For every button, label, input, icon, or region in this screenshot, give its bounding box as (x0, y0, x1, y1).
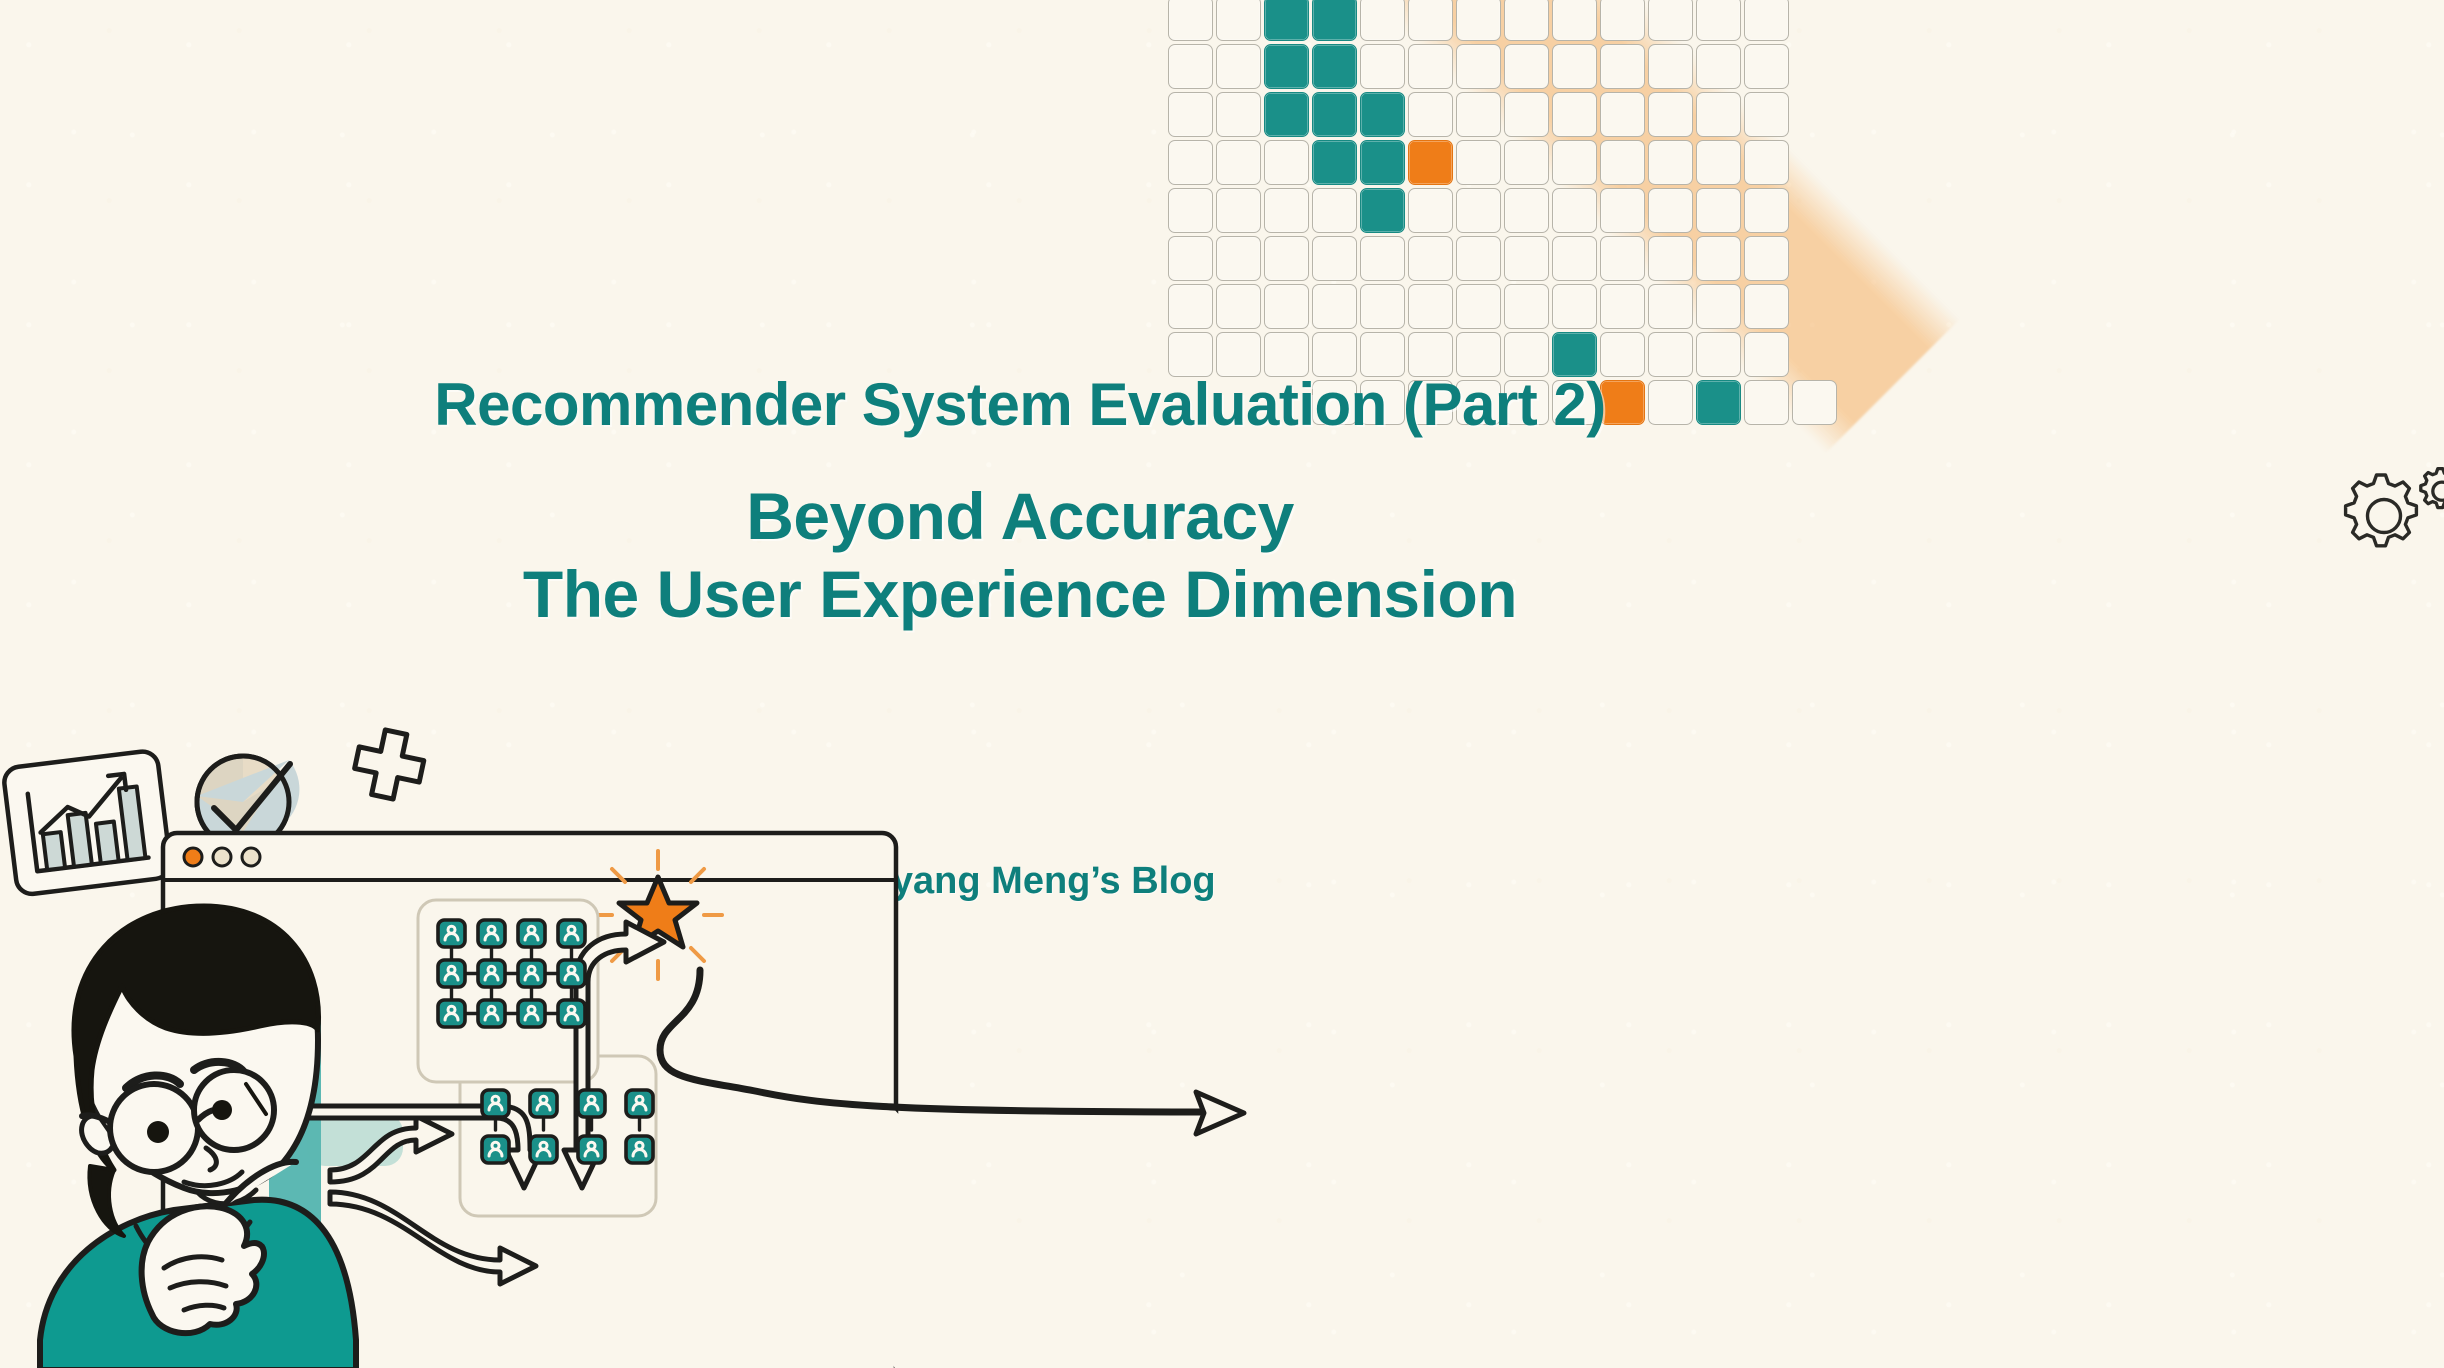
grid-cell (1504, 44, 1549, 89)
grid-cell (1360, 140, 1405, 185)
page-title-line-1: Beyond Accuracy (0, 478, 2040, 556)
grid-cell (1168, 0, 1213, 41)
grid-cell (1504, 284, 1549, 329)
hero-illustration (0, 720, 1760, 1368)
grid-cell (1744, 44, 1789, 89)
grid-cell (1600, 44, 1645, 89)
grid-cell (1456, 140, 1501, 185)
grid-cell (1312, 236, 1357, 281)
grid-cell (1168, 140, 1213, 185)
grid-cell (1552, 140, 1597, 185)
grid-cell (1552, 92, 1597, 137)
grid-cell (1408, 188, 1453, 233)
grid-cell (1744, 188, 1789, 233)
grid-cell (1552, 44, 1597, 89)
small-gear-icon (2421, 469, 2444, 508)
grid-cell (1312, 0, 1357, 41)
grid-cell (1264, 284, 1309, 329)
grid-cell (1216, 188, 1261, 233)
grid-cell (1552, 188, 1597, 233)
grid-cell (1600, 332, 1645, 377)
grid-cell (1408, 236, 1453, 281)
grid-cell (1504, 92, 1549, 137)
page-title: Beyond Accuracy The User Experience Dime… (0, 478, 2040, 634)
grid-cell (1168, 284, 1213, 329)
grid-cell (1600, 140, 1645, 185)
grid-cell (1264, 44, 1309, 89)
grid-cell (1456, 0, 1501, 41)
grid-cell (1312, 284, 1357, 329)
page-title-line-2: The User Experience Dimension (0, 556, 2040, 634)
grid-cell (1216, 284, 1261, 329)
grid-cell (1696, 284, 1741, 329)
title-block: Recommender System Evaluation (Part 2) B… (0, 372, 2040, 634)
grid-cell (1648, 236, 1693, 281)
grid-cell (1744, 140, 1789, 185)
grid-cell (1216, 44, 1261, 89)
grid-cell (1360, 236, 1405, 281)
grid-cell (1504, 140, 1549, 185)
grid-cell (1264, 236, 1309, 281)
grid-cell (1264, 188, 1309, 233)
grid-cell (1648, 92, 1693, 137)
grid-cell (1408, 0, 1453, 41)
grid-cell (1648, 140, 1693, 185)
grid-cell (1600, 284, 1645, 329)
grid-cell (1696, 140, 1741, 185)
grid-cell (1504, 188, 1549, 233)
grid-cell (1696, 44, 1741, 89)
grid-cell (1408, 284, 1453, 329)
grid-cell (1744, 284, 1789, 329)
grid-cell (1264, 92, 1309, 137)
grid-cell (1696, 236, 1741, 281)
grid-cell (1648, 332, 1693, 377)
grid-cell (1312, 92, 1357, 137)
grid-cell (1648, 44, 1693, 89)
slide-canvas: Recommender System Evaluation (Part 2) B… (0, 0, 2444, 1368)
grid-cell (1504, 236, 1549, 281)
grid-cell (1456, 188, 1501, 233)
grid-cell (1504, 0, 1549, 41)
grid-cell (1216, 0, 1261, 41)
grid-cell (1744, 236, 1789, 281)
grid-cell (1600, 92, 1645, 137)
grid-cell (1552, 284, 1597, 329)
grid-cell (1216, 140, 1261, 185)
grid-cell (1312, 188, 1357, 233)
grid-cell (1264, 140, 1309, 185)
grid-cell (1216, 236, 1261, 281)
grid-cell (1744, 332, 1789, 377)
person-illustration (40, 906, 356, 1368)
grid-cell (1456, 284, 1501, 329)
decorative-grid (1168, 0, 2418, 282)
grid-cell (1696, 332, 1741, 377)
grid-cell (1264, 0, 1309, 41)
grid-cell (1456, 44, 1501, 89)
grid-cell (1696, 188, 1741, 233)
grid-cell (1216, 92, 1261, 137)
grid-cell (1600, 0, 1645, 41)
grid-cell (1408, 92, 1453, 137)
grid-cell (1456, 236, 1501, 281)
grid-cell (1168, 44, 1213, 89)
grid-cell (1600, 236, 1645, 281)
grid-cell (1696, 0, 1741, 41)
grid-cell (1360, 44, 1405, 89)
gear-icon-group (2326, 452, 2444, 582)
grid-cell (1360, 92, 1405, 137)
grid-cell (1168, 236, 1213, 281)
gear-icon (2346, 475, 2417, 546)
grid-cell (1744, 92, 1789, 137)
grid-cell (1168, 92, 1213, 137)
grid-cell (1552, 236, 1597, 281)
page-kicker: Recommender System Evaluation (Part 2) (0, 372, 2040, 438)
grid-cell (1648, 0, 1693, 41)
grid-cell (1696, 92, 1741, 137)
grid-cell (1600, 188, 1645, 233)
grid-cell (1744, 0, 1789, 41)
grid-cell (1360, 284, 1405, 329)
grid-cell (1408, 44, 1453, 89)
grid-cell (1456, 92, 1501, 137)
grid-cell (1360, 188, 1405, 233)
grid-cell (1408, 140, 1453, 185)
grid-cell (1168, 188, 1213, 233)
grid-cell (1648, 188, 1693, 233)
grid-cell (1552, 0, 1597, 41)
grid-cell (1312, 44, 1357, 89)
grid-cell (1360, 0, 1405, 41)
grid-cell (1648, 284, 1693, 329)
grid-cell (1312, 140, 1357, 185)
